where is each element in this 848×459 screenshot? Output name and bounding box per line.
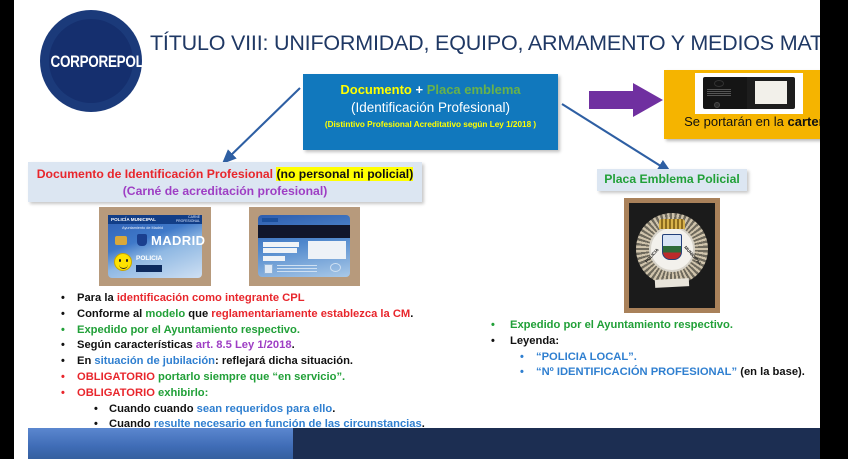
placa-crest-icon	[662, 234, 682, 260]
wallet-stud	[714, 102, 720, 108]
list-item: •“POLICIA LOCAL”.	[482, 350, 820, 366]
slide-canvas: CORPOREPOL TÍTULO VIII: UNIFORMIDAD, EQU…	[14, 0, 820, 459]
corporepol-logo: CORPOREPOL	[40, 10, 142, 112]
list-item-text: “POLICIA LOCAL”.	[536, 351, 637, 363]
list-item-text: .	[292, 339, 295, 351]
list-item-text: reglamentariamente establezca la CM	[211, 308, 410, 320]
documento-label-red: Documento de Identificación Profesional	[37, 167, 277, 181]
list-item: •Según características art. 8.5 Ley 1/20…	[52, 338, 452, 354]
cartera-caption: Se portarán en la cartera	[664, 114, 820, 129]
list-item-text: Conforme al	[77, 308, 145, 320]
id-card-header-right: CARNÉ PROFESIONAL	[176, 216, 200, 223]
list-item: •Para la identificación como integrante …	[52, 291, 452, 307]
list-item: •Expedido por el Ayuntamiento respectivo…	[482, 318, 820, 334]
documento-box-line1: Documento + Placa emblema	[303, 81, 558, 98]
wallet-id-card	[755, 81, 787, 104]
id-card-subtitle: Ayuntamiento de Madrid	[122, 226, 163, 230]
magnetic-stripe	[258, 225, 350, 238]
bullet-dot-icon: •	[61, 323, 65, 339]
documento-identificacion-label: Documento de Identificación Profesional …	[28, 162, 422, 202]
list-item-text: art. 8.5 Ley 1/2018	[196, 339, 292, 351]
placa-emblema-label: Placa Emblema Policial	[597, 169, 747, 191]
id-card-brand: MADRID	[151, 233, 205, 248]
list-item: •Cuando cuando sean requeridos para ello…	[52, 402, 452, 418]
back-text-lines	[277, 265, 317, 273]
list-item-text: .	[332, 403, 335, 415]
placa-number-ribbon	[655, 278, 689, 288]
smiley-sticker-icon	[114, 253, 132, 271]
cartera-box: Se portarán en la cartera	[664, 70, 820, 139]
placa-plate: POLICIA MUNICIPAL	[629, 203, 715, 308]
list-item: •“Nº IDENTIFICACIÓN PROFESIONAL” (en la …	[482, 365, 820, 381]
wallet-photo	[695, 73, 803, 114]
bullet-dot-icon: •	[61, 386, 65, 402]
bullet-dot-icon: •	[491, 334, 495, 350]
list-item-text: que	[185, 308, 211, 320]
id-card-back-photo	[249, 207, 360, 286]
list-item-text: Leyenda:	[510, 335, 559, 347]
list-item-text: (en la base).	[737, 366, 805, 378]
left-bullet-list: •Para la identificación como integrante …	[52, 291, 452, 433]
list-item-text: “Nº IDENTIFICACIÓN PROFESIONAL”	[536, 366, 737, 378]
madrid-shield-icon	[137, 234, 147, 246]
list-item-text: exhibirlo:	[158, 387, 208, 399]
list-item-text: sean requeridos para ello	[197, 403, 333, 415]
list-item: •En situación de jubilación: reflejará d…	[52, 354, 452, 370]
signature-panel	[308, 241, 346, 259]
list-item: •Leyenda:	[482, 334, 820, 350]
list-item-text: : reflejará dicha situación.	[215, 355, 353, 367]
list-item-text: Según características	[77, 339, 196, 351]
list-item-text: Cuando cuando	[109, 403, 197, 415]
list-item-text: Expedido por el Ayuntamiento respectivo.	[510, 319, 733, 331]
page-title: TÍTULO VIII: UNIFORMIDAD, EQUIPO, ARMAME…	[150, 31, 810, 56]
bullet-dot-icon: •	[520, 365, 524, 381]
documento-box-line2: (Identificación Profesional)	[303, 98, 558, 117]
list-item: •Conforme al modelo que reglamentariamen…	[52, 307, 452, 323]
list-item-text: OBLIGATORIO	[77, 371, 158, 383]
list-item: •Expedido por el Ayuntamiento respectivo…	[52, 323, 452, 339]
back-field-3	[263, 256, 285, 261]
id-card-back-tag	[262, 218, 278, 222]
wallet-left-flap	[703, 77, 747, 109]
list-item-text: Expedido por el Ayuntamiento respectivo.	[77, 324, 300, 336]
list-item-text: identificación como integrante CPL	[117, 292, 305, 304]
back-field-1	[263, 242, 299, 247]
id-card-front: POLICÍA MUNICIPAL CARNÉ PROFESIONAL Ayun…	[108, 215, 202, 278]
list-item-text: En	[77, 355, 94, 367]
id-card-profesional: PROFESIONAL	[176, 220, 200, 224]
footer-bar-left	[28, 428, 293, 459]
list-item: •OBLIGATORIO portarlo siempre que “en se…	[52, 370, 452, 386]
documento-label-highlight: (no personal ni policial)	[276, 167, 413, 181]
bullet-dot-icon: •	[491, 318, 495, 334]
placa-emblema-word: Placa emblema	[427, 82, 521, 97]
bullet-dot-icon: •	[61, 370, 65, 386]
id-card-number-redaction	[136, 265, 162, 272]
back-hologram-icon	[330, 263, 341, 272]
bullet-dot-icon: •	[61, 291, 65, 307]
list-item-text: OBLIGATORIO	[77, 387, 158, 399]
id-card-back	[258, 215, 350, 277]
list-item-text: portarlo siempre que “en servicio”.	[158, 371, 345, 383]
list-item-text: Para la	[77, 292, 117, 304]
back-field-2	[263, 248, 297, 253]
back-shield-icon	[264, 264, 273, 274]
right-bullet-list: •Expedido por el Ayuntamiento respectivo…	[482, 318, 820, 381]
purple-right-arrow-icon	[589, 83, 663, 117]
placa-emblema-photo: POLICIA MUNICIPAL	[624, 198, 720, 313]
arrow-to-documento	[226, 88, 300, 160]
plus-sign: +	[412, 82, 427, 97]
logo-wordmark: CORPOREPOL	[51, 52, 144, 71]
wallet-lines	[707, 89, 731, 96]
id-card-role: POLICIA	[136, 255, 162, 262]
placa-crown-icon	[659, 219, 685, 229]
documento-box-line3: (Distintivo Profesional Acreditativo seg…	[303, 117, 558, 133]
id-card-chip-icon	[115, 236, 127, 245]
list-item-text: modelo	[145, 308, 185, 320]
id-card-front-photo: POLICÍA MUNICIPAL CARNÉ PROFESIONAL Ayun…	[99, 207, 211, 286]
list-item: •OBLIGATORIO exhibirlo:	[52, 386, 452, 402]
logo-disc: CORPOREPOL	[49, 19, 133, 103]
bullet-dot-icon: •	[520, 350, 524, 366]
bullet-dot-icon: •	[61, 307, 65, 323]
documento-placa-box: Documento + Placa emblema (Identificació…	[303, 74, 558, 150]
documento-label-line1: Documento de Identificación Profesional …	[28, 166, 422, 183]
documento-word: Documento	[340, 82, 412, 97]
footer-bar-right	[293, 428, 820, 459]
wallet-seal	[714, 80, 724, 87]
documento-label-line2: (Carné de acreditación profesional)	[28, 183, 422, 200]
list-item-text: situación de jubilación	[94, 355, 215, 367]
bullet-dot-icon: •	[61, 338, 65, 354]
list-item-text: .	[410, 308, 413, 320]
bullet-dot-icon: •	[61, 354, 65, 370]
bullet-dot-icon: •	[94, 402, 98, 418]
cartera-caption-a: Se portarán en la	[684, 114, 787, 129]
cartera-caption-b: cartera	[787, 114, 820, 129]
